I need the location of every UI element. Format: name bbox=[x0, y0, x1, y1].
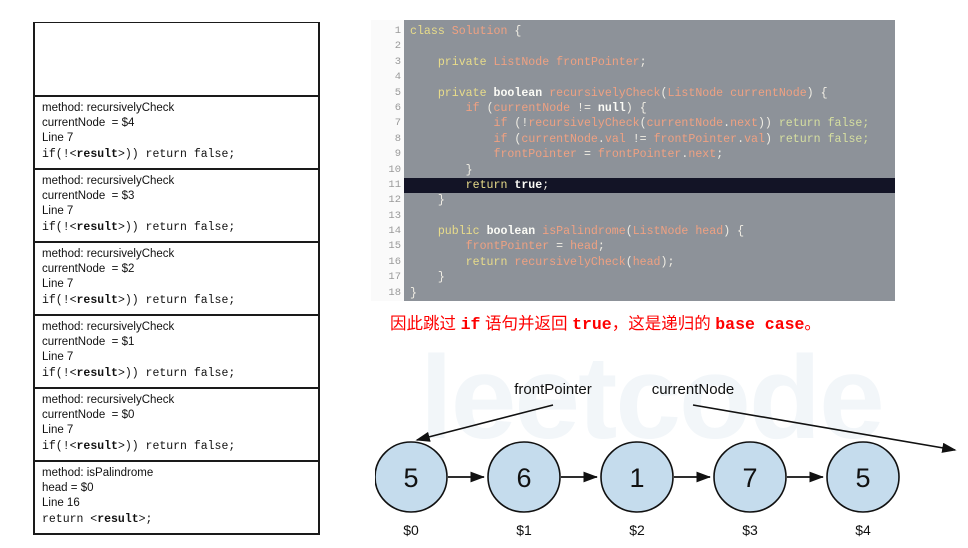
code-line[interactable] bbox=[407, 209, 895, 224]
stack-frame: method: recursivelyCheckcurrentNode = $1… bbox=[35, 316, 318, 389]
code-line[interactable]: frontPointer = frontPointer.next; bbox=[407, 147, 895, 162]
code-line[interactable]: if (!recursivelyCheck(currentNode.next))… bbox=[407, 116, 895, 131]
frame-variable: currentNode = $4 bbox=[42, 116, 311, 131]
annotation-part-2: 语句并返回 bbox=[480, 315, 572, 333]
list-node-address: $0 bbox=[403, 522, 419, 538]
frame-method-name: method: recursivelyCheck bbox=[42, 320, 311, 335]
list-node-value: 7 bbox=[742, 463, 757, 493]
list-node-address: $2 bbox=[629, 522, 645, 538]
code-line-highlighted[interactable]: return true; bbox=[404, 178, 895, 193]
code-line[interactable]: class Solution { bbox=[407, 24, 895, 39]
line-number: 18 bbox=[371, 286, 404, 301]
code-line[interactable]: private boolean recursivelyCheck(ListNod… bbox=[407, 86, 895, 101]
list-node-value: 5 bbox=[855, 463, 870, 493]
frame-code-result-token: result bbox=[77, 221, 118, 234]
frame-code-prefix: if(!< bbox=[42, 294, 77, 307]
frame-code-suffix: >; bbox=[139, 513, 153, 526]
stack-frame: method: recursivelyCheckcurrentNode = $3… bbox=[35, 170, 318, 243]
frame-variable: currentNode = $2 bbox=[42, 262, 311, 277]
frame-code-snippet: if(!<result>)) return false; bbox=[42, 439, 311, 455]
call-stack-panel: method: recursivelyCheckcurrentNode = $4… bbox=[33, 22, 320, 535]
line-number: 5▾ bbox=[371, 86, 404, 101]
line-number: 6▾ bbox=[371, 101, 404, 116]
frame-code-snippet: if(!<result>)) return false; bbox=[42, 220, 311, 236]
pointer-label: currentNode bbox=[652, 381, 735, 398]
frame-code-prefix: if(!< bbox=[42, 148, 77, 161]
annotation-part-3: ，这是递归的 bbox=[612, 315, 716, 333]
stack-frame: method: recursivelyCheckcurrentNode = $4… bbox=[35, 97, 318, 170]
list-node-value: 1 bbox=[629, 463, 644, 493]
currentNode-arrow bbox=[693, 405, 955, 450]
list-node-value: 5 bbox=[403, 463, 418, 493]
frame-line-number: Line 7 bbox=[42, 131, 311, 146]
code-content-area[interactable]: class Solution { private ListNode frontP… bbox=[404, 20, 895, 301]
pointer-label: frontPointer bbox=[514, 381, 592, 398]
code-editor[interactable]: 1▾2345▾6▾7891011121314▾15161718 class So… bbox=[371, 20, 895, 301]
annotation-keyword-true: true bbox=[572, 315, 612, 334]
code-line[interactable]: return recursivelyCheck(head); bbox=[407, 255, 895, 270]
frame-line-number: Line 7 bbox=[42, 350, 311, 365]
frame-code-snippet: if(!<result>)) return false; bbox=[42, 147, 311, 163]
stack-frame-empty bbox=[35, 23, 318, 97]
frame-line-number: Line 16 bbox=[42, 496, 311, 511]
line-number-gutter[interactable]: 1▾2345▾6▾7891011121314▾15161718 bbox=[371, 20, 404, 301]
line-number: 4 bbox=[371, 70, 404, 85]
frame-code-prefix: if(!< bbox=[42, 221, 77, 234]
frame-code-result-token: result bbox=[77, 294, 118, 307]
frame-code-prefix: return < bbox=[42, 513, 97, 526]
frame-variable: currentNode = $0 bbox=[42, 408, 311, 423]
code-line[interactable]: } bbox=[407, 270, 895, 285]
annotation-keyword-base-case: base case bbox=[715, 315, 804, 334]
line-number: 16 bbox=[371, 255, 404, 270]
frame-line-number: Line 7 bbox=[42, 423, 311, 438]
list-node-value: 6 bbox=[516, 463, 531, 493]
code-line[interactable] bbox=[407, 70, 895, 85]
frame-code-prefix: if(!< bbox=[42, 367, 77, 380]
annotation-part-1: 因此跳过 bbox=[390, 315, 461, 333]
frame-line-number: Line 7 bbox=[42, 277, 311, 292]
frame-method-name: method: recursivelyCheck bbox=[42, 174, 311, 189]
frame-variable: currentNode = $1 bbox=[42, 335, 311, 350]
line-number: 15 bbox=[371, 239, 404, 254]
code-line[interactable]: } bbox=[407, 163, 895, 178]
frame-code-suffix: >)) return false; bbox=[118, 221, 235, 234]
code-line[interactable]: if (currentNode != null) { bbox=[407, 101, 895, 116]
code-line[interactable]: } bbox=[407, 193, 895, 208]
linked-list-diagram: frontPointercurrentNode5$06$11$27$35$4 bbox=[375, 372, 965, 548]
list-node-address: $1 bbox=[516, 522, 532, 538]
frame-code-suffix: >)) return false; bbox=[118, 367, 235, 380]
frame-method-name: method: recursivelyCheck bbox=[42, 101, 311, 116]
frame-code-result-token: result bbox=[97, 513, 138, 526]
frame-variable: currentNode = $3 bbox=[42, 189, 311, 204]
stack-frame: method: isPalindromehead = $0Line 16retu… bbox=[35, 462, 318, 533]
frame-code-prefix: if(!< bbox=[42, 440, 77, 453]
frame-method-name: method: recursivelyCheck bbox=[42, 393, 311, 408]
frame-code-snippet: if(!<result>)) return false; bbox=[42, 366, 311, 382]
frame-code-result-token: result bbox=[77, 148, 118, 161]
annotation-part-4: 。 bbox=[804, 315, 821, 333]
line-number: 3 bbox=[371, 55, 404, 70]
stack-frame: method: recursivelyCheckcurrentNode = $2… bbox=[35, 243, 318, 316]
frame-variable: head = $0 bbox=[42, 481, 311, 496]
line-number: 7 bbox=[371, 116, 404, 131]
code-line[interactable]: public boolean isPalindrome(ListNode hea… bbox=[407, 224, 895, 239]
annotation-keyword-if: if bbox=[461, 315, 481, 334]
frame-line-number: Line 7 bbox=[42, 204, 311, 219]
line-number: 13 bbox=[371, 209, 404, 224]
code-line[interactable]: private ListNode frontPointer; bbox=[407, 55, 895, 70]
line-number: 17 bbox=[371, 270, 404, 285]
line-number: 2 bbox=[371, 39, 404, 54]
line-number: 9 bbox=[371, 147, 404, 162]
stack-frame: method: recursivelyCheckcurrentNode = $0… bbox=[35, 389, 318, 462]
frontPointer-arrow bbox=[417, 405, 553, 440]
explanation-annotation: 因此跳过 if 语句并返回 true，这是递归的 base case。 bbox=[390, 312, 890, 337]
line-number: 14▾ bbox=[371, 224, 404, 239]
code-line[interactable]: frontPointer = head; bbox=[407, 239, 895, 254]
frame-code-result-token: result bbox=[77, 367, 118, 380]
line-number: 12 bbox=[371, 193, 404, 208]
frame-code-snippet: return <result>; bbox=[42, 512, 311, 528]
line-number: 8 bbox=[371, 132, 404, 147]
list-node-address: $4 bbox=[855, 522, 871, 538]
code-line[interactable]: } bbox=[407, 286, 895, 301]
line-number: 11 bbox=[371, 178, 404, 193]
frame-method-name: method: isPalindrome bbox=[42, 466, 311, 481]
frame-code-suffix: >)) return false; bbox=[118, 440, 235, 453]
frame-code-suffix: >)) return false; bbox=[118, 148, 235, 161]
code-line[interactable] bbox=[407, 39, 895, 54]
frame-code-suffix: >)) return false; bbox=[118, 294, 235, 307]
frame-code-snippet: if(!<result>)) return false; bbox=[42, 293, 311, 309]
frame-code-result-token: result bbox=[77, 440, 118, 453]
line-number: 10 bbox=[371, 163, 404, 178]
code-line[interactable]: if (currentNode.val != frontPointer.val)… bbox=[407, 132, 895, 147]
line-number: 1▾ bbox=[371, 24, 404, 39]
frame-method-name: method: recursivelyCheck bbox=[42, 247, 311, 262]
diagram-svg: frontPointercurrentNode5$06$11$27$35$4 bbox=[375, 372, 965, 548]
list-node-address: $3 bbox=[742, 522, 758, 538]
